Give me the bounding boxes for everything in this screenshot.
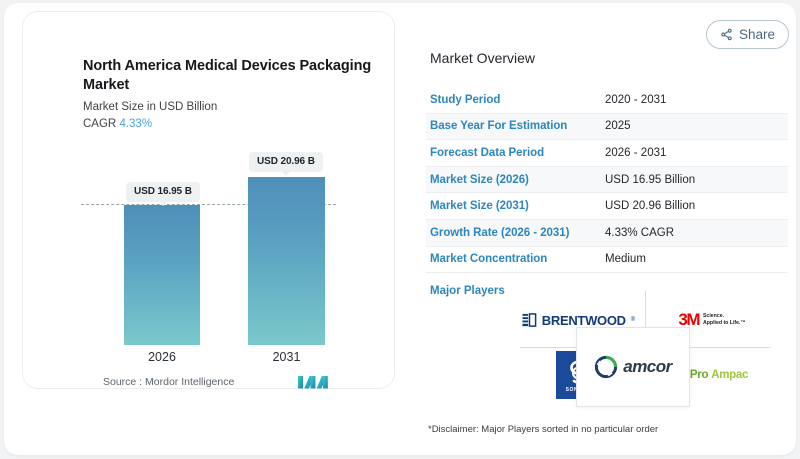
- share-icon: [720, 28, 733, 41]
- proampac-label-ampac: Ampac: [711, 369, 748, 381]
- bar-2026[interactable]: [124, 205, 200, 345]
- share-button-label: Share: [739, 27, 775, 42]
- brentwood-registered-mark: ®: [631, 317, 635, 323]
- x-axis-label-2031: 2031: [248, 350, 325, 364]
- disclaimer-text: *Disclaimer: Major Players sorted in no …: [428, 424, 658, 435]
- chart-card: North America Medical Devices Packaging …: [22, 11, 395, 389]
- 3m-tagline-line2: Applied to Life.™: [703, 320, 746, 326]
- row-value: USD 16.95 Billion: [605, 174, 695, 186]
- row-key: Growth Rate (2026 - 2031): [426, 227, 605, 239]
- market-overview-table: Study Period 2020 - 2031 Base Year For E…: [426, 87, 788, 300]
- bar-label-2026: USD 16.95 B: [126, 182, 200, 202]
- row-value: 2025: [605, 120, 631, 132]
- row-key: Market Size (2031): [426, 200, 605, 212]
- chart-source-value: Mordor Intelligence: [145, 376, 234, 388]
- row-value: Medium: [605, 253, 646, 265]
- brentwood-label: BRENTWOOD: [542, 313, 626, 328]
- row-key: Forecast Data Period: [426, 147, 605, 159]
- major-players-label: Major Players: [430, 285, 505, 297]
- mordor-intelligence-logo-icon: [298, 374, 328, 389]
- row-value: 4.33% CAGR: [605, 227, 674, 239]
- proampac-label-pro: Pro: [690, 369, 708, 381]
- table-row: Market Size (2031) USD 20.96 Billion: [426, 193, 788, 220]
- row-key: Study Period: [426, 94, 605, 106]
- page-card: Share North America Medical Devices Pack…: [4, 3, 796, 455]
- table-row: Forecast Data Period 2026 - 2031: [426, 140, 788, 167]
- bar-2031[interactable]: [248, 177, 325, 345]
- market-overview-title: Market Overview: [430, 50, 535, 66]
- table-row: Market Concentration Medium: [426, 247, 788, 274]
- 3m-tagline: Science. Applied to Life.™: [703, 313, 746, 327]
- table-row: Growth Rate (2026 - 2031) 4.33% CAGR: [426, 220, 788, 247]
- row-key: Market Concentration: [426, 253, 605, 265]
- table-row: Market Size (2026) USD 16.95 Billion: [426, 167, 788, 194]
- player-cell-amcor[interactable]: amcor: [576, 327, 690, 407]
- row-value: 2020 - 2031: [605, 94, 666, 106]
- amcor-label: amcor: [623, 357, 672, 377]
- chart-source-label: Source :: [103, 376, 142, 388]
- table-row: Base Year For Estimation 2025: [426, 114, 788, 141]
- amcor-logo-icon: amcor: [594, 355, 672, 379]
- row-value: USD 20.96 Billion: [605, 200, 695, 212]
- bar-label-2031: USD 20.96 B: [249, 152, 323, 172]
- brentwood-logo-icon: BRENTWOOD ®: [522, 313, 635, 328]
- share-button[interactable]: Share: [706, 20, 789, 49]
- row-value: 2026 - 2031: [605, 147, 666, 159]
- chart-source: Source : Mordor Intelligence: [103, 376, 234, 388]
- row-key: Base Year For Estimation: [426, 120, 605, 132]
- 3m-tagline-line1: Science.: [703, 313, 724, 319]
- major-players-grid: BRENTWOOD ® 3M Science. Applied to Life.…: [512, 291, 778, 403]
- x-axis-label-2026: 2026: [124, 350, 200, 364]
- bar-chart-plot: USD 16.95 B USD 20.96 B 2026 2031: [23, 12, 396, 390]
- row-key: Market Size (2026): [426, 174, 605, 186]
- table-row: Study Period 2020 - 2031: [426, 87, 788, 114]
